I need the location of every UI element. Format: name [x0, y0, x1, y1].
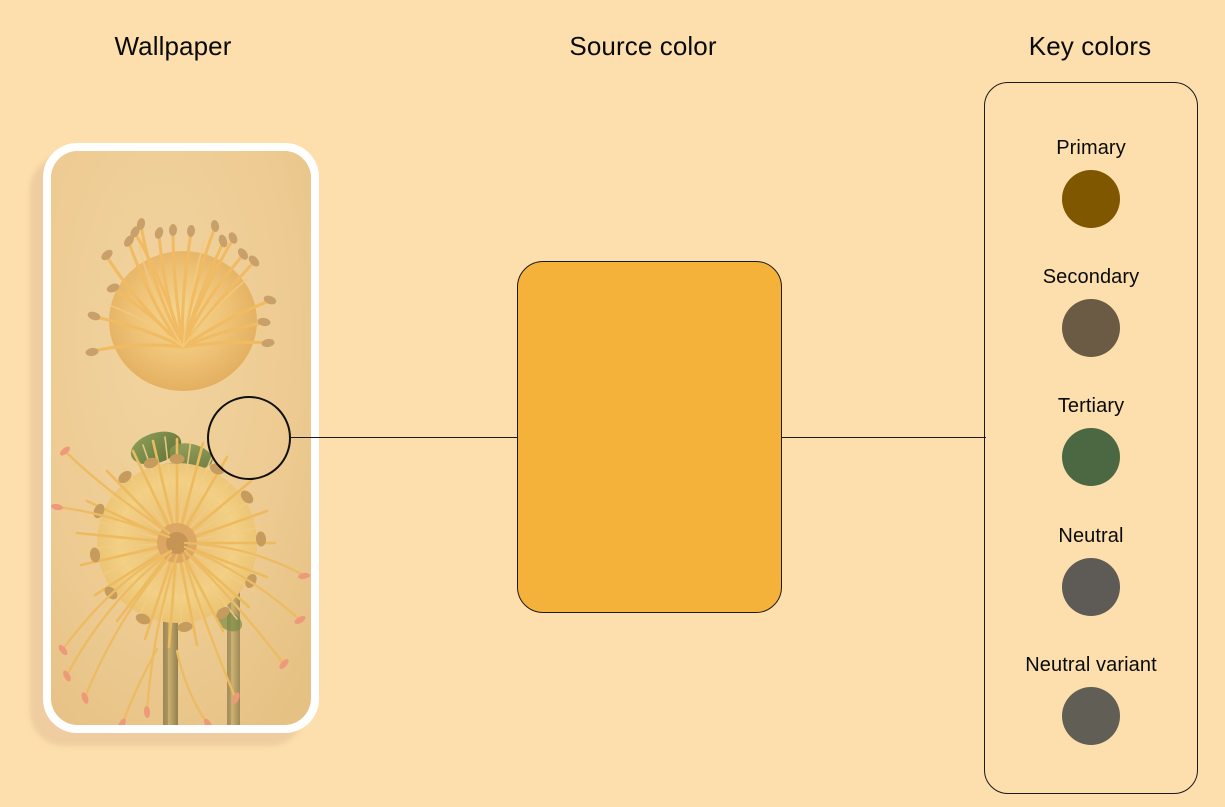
- connector-line-source-to-key-colors: [781, 437, 986, 438]
- key-color-primary: Primary: [1056, 137, 1126, 228]
- key-color-dot-neutral-variant: [1062, 687, 1120, 745]
- key-color-dot-tertiary: [1062, 428, 1120, 486]
- key-color-label: Tertiary: [1058, 395, 1124, 418]
- source-color-column-title: Source color: [569, 31, 716, 62]
- key-colors-column-title: Key colors: [1029, 31, 1151, 62]
- key-color-neutral: Neutral: [1058, 525, 1123, 616]
- connector-line-wallpaper-to-source: [290, 437, 518, 438]
- key-color-label: Primary: [1056, 137, 1126, 160]
- dynamic-color-diagram: Wallpaper Source color Key colors: [0, 0, 1225, 807]
- key-colors-card: Primary Secondary Tertiary Neutral Neutr…: [984, 82, 1198, 794]
- key-color-dot-primary: [1062, 170, 1120, 228]
- key-color-secondary: Secondary: [1043, 266, 1140, 357]
- key-color-tertiary: Tertiary: [1058, 395, 1124, 486]
- wallpaper-column-title: Wallpaper: [115, 31, 232, 62]
- sampled-pixel-circle: [207, 396, 291, 480]
- key-color-label: Neutral: [1058, 525, 1123, 548]
- key-color-neutral-variant: Neutral variant: [1025, 654, 1157, 745]
- source-color-swatch: [517, 261, 782, 613]
- key-color-dot-secondary: [1062, 299, 1120, 357]
- key-color-label: Neutral variant: [1025, 654, 1157, 677]
- key-color-dot-neutral: [1062, 558, 1120, 616]
- key-color-label: Secondary: [1043, 266, 1140, 289]
